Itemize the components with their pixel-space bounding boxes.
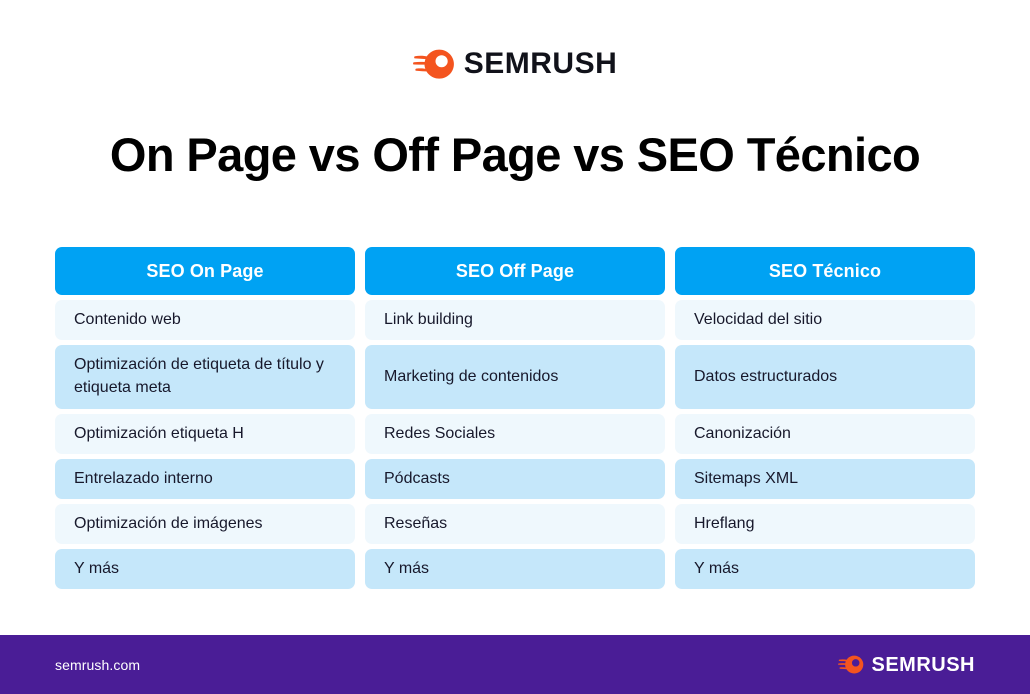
table-row: Canonización [675, 414, 975, 454]
column-seo-off-page: SEO Off Page Link building Marketing de … [365, 247, 665, 589]
table-row: Y más [365, 549, 665, 589]
table-row: Sitemaps XML [675, 459, 975, 499]
table-row: Reseñas [365, 504, 665, 544]
column-header-seo-tecnico: SEO Técnico [675, 247, 975, 295]
footer-bar: semrush.com SEMRUSH [0, 635, 1030, 694]
table-row: Link building [365, 300, 665, 340]
table-row: Hreflang [675, 504, 975, 544]
column-header-seo-off-page: SEO Off Page [365, 247, 665, 295]
table-row: Optimización etiqueta H [55, 414, 355, 454]
table-row: Y más [675, 549, 975, 589]
table-row: Optimización de etiqueta de título y eti… [55, 345, 355, 409]
brand-header: SEMRUSH [0, 49, 1030, 84]
semrush-wordmark: SEMRUSH [464, 49, 618, 79]
table-row: Pódcasts [365, 459, 665, 499]
table-row: Y más [55, 549, 355, 589]
table-row: Datos estructurados [675, 345, 975, 409]
comparison-table: SEO On Page Contenido web Optimización d… [55, 247, 975, 589]
table-row: Velocidad del sitio [675, 300, 975, 340]
table-row: Redes Sociales [365, 414, 665, 454]
semrush-logo: SEMRUSH [413, 49, 618, 79]
table-row: Entrelazado interno [55, 459, 355, 499]
column-seo-tecnico: SEO Técnico Velocidad del sitio Datos es… [675, 247, 975, 589]
column-header-seo-on-page: SEO On Page [55, 247, 355, 295]
semrush-comet-icon [838, 655, 864, 674]
page-title: On Page vs Off Page vs SEO Técnico [0, 128, 1030, 182]
footer-semrush-logo: SEMRUSH [838, 655, 975, 675]
table-row: Marketing de contenidos [365, 345, 665, 409]
semrush-comet-icon [413, 49, 455, 79]
table-row: Contenido web [55, 300, 355, 340]
footer-website-url[interactable]: semrush.com [55, 657, 140, 673]
table-row: Optimización de imágenes [55, 504, 355, 544]
column-seo-on-page: SEO On Page Contenido web Optimización d… [55, 247, 355, 589]
footer-semrush-wordmark: SEMRUSH [871, 655, 975, 675]
